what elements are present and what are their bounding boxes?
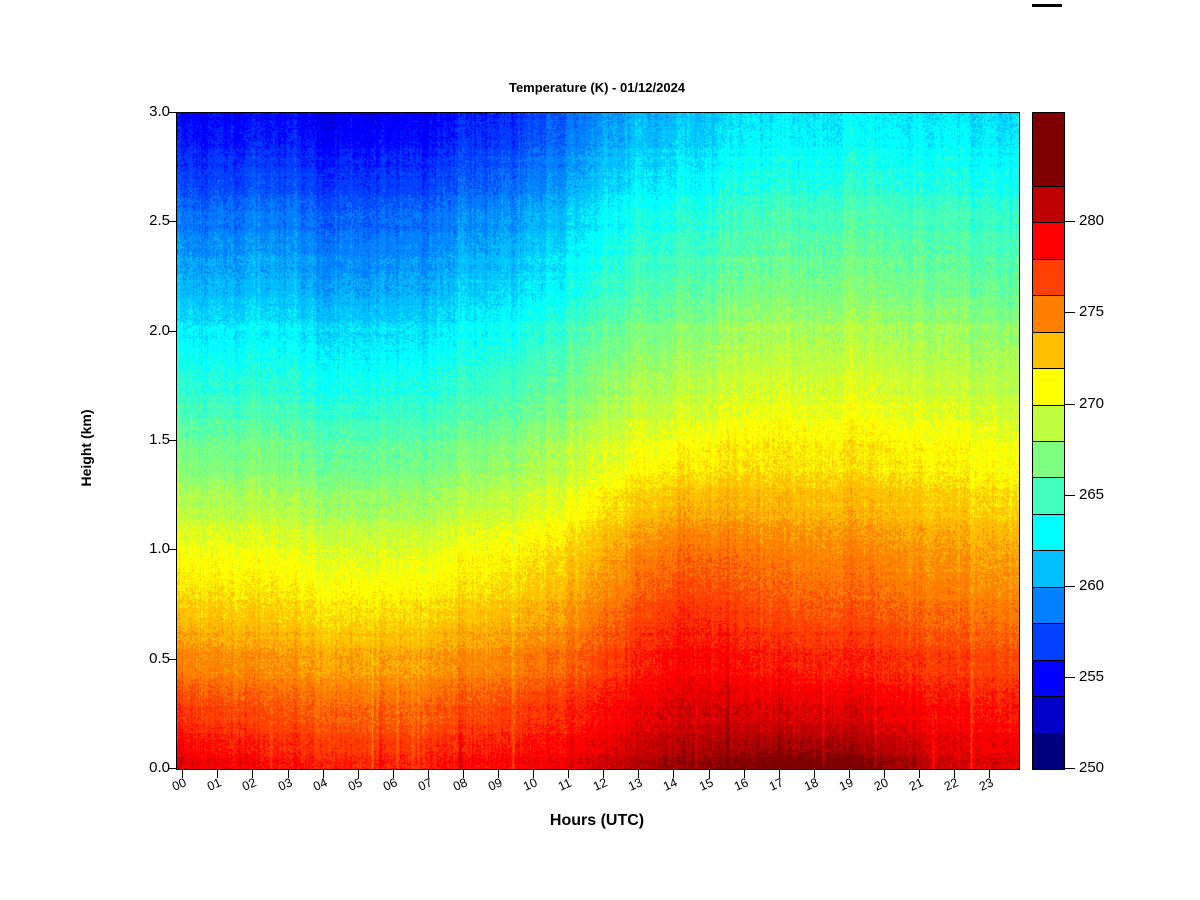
colorbar-band <box>1033 477 1064 513</box>
y-axis-label: Height (km) <box>78 358 94 538</box>
colorbar-band <box>1033 186 1064 222</box>
y-tick-label: 2.0 <box>0 322 170 339</box>
colorbar-band <box>1033 696 1064 732</box>
x-tick-label: 22 <box>942 775 960 793</box>
colorbar-band <box>1033 733 1064 769</box>
x-tick-label: 05 <box>346 775 364 793</box>
colorbar-band <box>1033 660 1064 696</box>
colorbar-tick-label: 255 <box>1079 668 1104 685</box>
colorbar-tick-mark <box>1065 312 1075 313</box>
colorbar-band <box>1033 623 1064 659</box>
x-tick-label: 12 <box>591 775 609 793</box>
x-tick-label: 07 <box>416 775 434 793</box>
temperature-time-height-figure: Temperature (K) - 01/12/2024 0.00.51.01.… <box>0 0 1200 900</box>
y-tick-label: 2.5 <box>0 212 170 229</box>
x-tick-label: 20 <box>872 775 890 793</box>
colorbar-tick-label: 270 <box>1079 395 1104 412</box>
x-tick-label: 06 <box>381 775 399 793</box>
x-tick-label: 14 <box>661 775 679 793</box>
x-tick-label: 02 <box>240 775 258 793</box>
colorbar-tick-label: 260 <box>1079 577 1104 594</box>
colorbar-tick-mark <box>1065 404 1075 405</box>
x-tick-label: 23 <box>977 775 995 793</box>
colorbar-tick-mark <box>1065 768 1075 769</box>
y-tick-label: 3.0 <box>0 103 170 120</box>
colorbar-band <box>1033 514 1064 550</box>
y-tick-label: 0.0 <box>0 759 170 776</box>
colorbar-tick-label: 275 <box>1079 303 1104 320</box>
temperature-field-canvas <box>177 113 1019 769</box>
colorbar-band <box>1033 113 1064 186</box>
x-tick-label: 11 <box>556 776 574 794</box>
colorbar-tick-mark <box>1065 221 1075 222</box>
x-tick-label: 01 <box>205 775 223 793</box>
x-tick-label: 00 <box>170 775 188 793</box>
colorbar-tick-mark <box>1065 495 1075 496</box>
x-tick-label: 10 <box>521 775 539 793</box>
colorbar-band <box>1033 405 1064 441</box>
x-tick-label: 19 <box>837 775 855 793</box>
x-axis-label: Hours (UTC) <box>176 812 1018 830</box>
x-tick-label: 09 <box>486 775 504 793</box>
x-tick-label: 08 <box>451 775 469 793</box>
colorbar-band <box>1033 295 1064 331</box>
colorbar-tick-label: 280 <box>1079 212 1104 229</box>
colorbar-band <box>1033 259 1064 295</box>
colorbar <box>1032 112 1065 770</box>
colorbar-tick-label: 250 <box>1079 759 1104 776</box>
x-tick-label: 18 <box>802 775 820 793</box>
x-tick-label: 03 <box>276 775 294 793</box>
x-tick-label: 13 <box>626 775 644 793</box>
colorbar-band <box>1033 587 1064 623</box>
plot-area <box>176 112 1020 770</box>
x-tick-label: 04 <box>311 775 329 793</box>
colorbar-band <box>1033 550 1064 586</box>
colorbar-tick-mark <box>1065 586 1075 587</box>
y-tick-label: 0.5 <box>0 650 170 667</box>
y-tick-label: 1.0 <box>0 540 170 557</box>
colorbar-band <box>1033 222 1064 258</box>
colorbar-tick-mark <box>1065 677 1075 678</box>
x-tick-label: 15 <box>697 775 715 793</box>
colorbar-band <box>1033 332 1064 368</box>
x-tick-label: 21 <box>907 775 925 793</box>
x-tick-label: 17 <box>767 775 785 793</box>
page-title: Temperature (K) - 01/12/2024 <box>176 80 1018 95</box>
colorbar-band <box>1033 368 1064 404</box>
colorbar-tick-label: 265 <box>1079 486 1104 503</box>
top-edge-artifact <box>1032 4 1062 7</box>
colorbar-band <box>1033 441 1064 477</box>
x-tick-label: 16 <box>732 775 750 793</box>
